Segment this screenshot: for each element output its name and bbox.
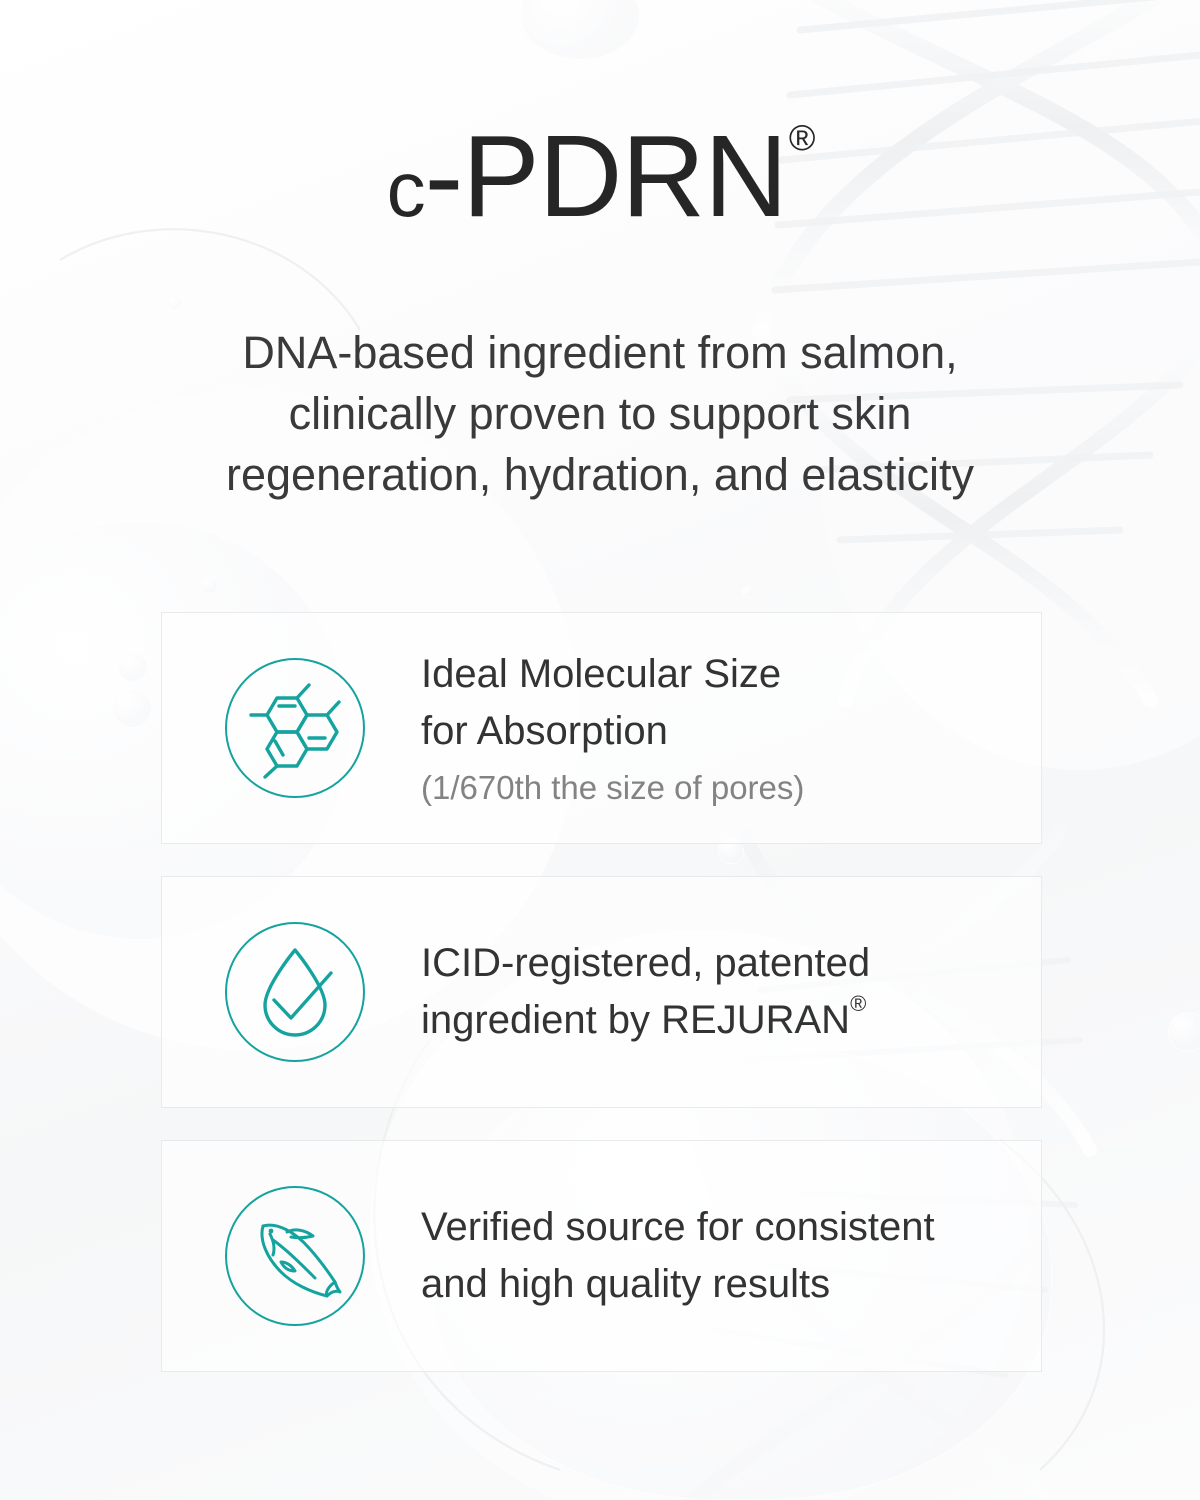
feature-heading-line-2: for Absorption: [421, 703, 804, 760]
page-title: c-PDRN®: [0, 118, 1200, 234]
brand-lead-letter: c: [387, 145, 425, 233]
feature-card-list: Ideal Molecular Size for Absorption (1/6…: [161, 612, 1042, 1372]
feature-heading-line-1: Ideal Molecular Size: [421, 646, 804, 703]
feature-card-icid-registered: ICID-registered, patented ingredient by …: [161, 876, 1042, 1108]
page-subtitle: DNA-based ingredient from salmon, clinic…: [0, 322, 1200, 506]
feature-heading-line-1: ICID-registered, patented: [421, 935, 870, 992]
feature-note: (1/670th the size of pores): [421, 767, 804, 810]
feature-heading-line-2-text: ingredient by REJURAN: [421, 998, 850, 1042]
feature-card-text: ICID-registered, patented ingredient by …: [421, 935, 870, 1049]
brand-main-text: PDRN: [462, 111, 787, 241]
feature-heading: Ideal Molecular Size for Absorption: [421, 646, 804, 760]
feature-heading-line-2: ingredient by REJURAN®: [421, 992, 870, 1049]
feature-card-text: Ideal Molecular Size for Absorption (1/6…: [421, 646, 804, 810]
molecule-icon: [225, 658, 365, 798]
registered-mark-icon: ®: [789, 117, 816, 158]
brand-separator: -: [425, 111, 463, 241]
feature-heading-line-2: and high quality results: [421, 1256, 935, 1313]
subtitle-line-1: DNA-based ingredient from salmon,: [0, 322, 1200, 383]
water-drop-check-icon: [225, 922, 365, 1062]
feature-card-molecular-size: Ideal Molecular Size for Absorption (1/6…: [161, 612, 1042, 844]
feature-heading-line-1: Verified source for consistent: [421, 1199, 935, 1256]
feature-card-text: Verified source for consistent and high …: [421, 1199, 935, 1313]
registered-mark-icon: ®: [850, 991, 866, 1016]
feature-heading: ICID-registered, patented ingredient by …: [421, 935, 870, 1049]
subtitle-line-2: clinically proven to support skin: [0, 383, 1200, 444]
brand-title: c-PDRN®: [387, 118, 814, 234]
subtitle-line-3: regeneration, hydration, and elasticity: [0, 444, 1200, 505]
infographic-page: c-PDRN® DNA-based ingredient from salmon…: [0, 0, 1200, 1500]
feature-card-verified-source: Verified source for consistent and high …: [161, 1140, 1042, 1372]
feature-heading: Verified source for consistent and high …: [421, 1199, 935, 1313]
fish-icon: [225, 1186, 365, 1326]
